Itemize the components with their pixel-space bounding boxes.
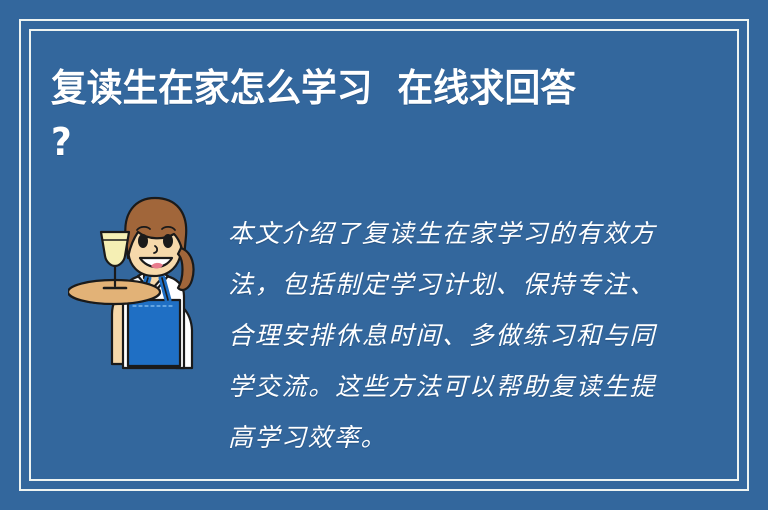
left-eye [138,234,148,248]
right-eye [163,234,173,248]
article-summary: 本文介绍了复读生在家学习的有效方法，包括制定学习计划、保持专注、合理安排休息时间… [228,208,656,463]
page-title: 复读生在家怎么学习 在线求回答 ? [51,62,615,170]
apron [128,300,180,366]
ponytail [178,248,194,290]
wine-glass-bowl [101,232,129,266]
waitress-with-tray-illustration [68,196,210,386]
article-banner: 复读生在家怎么学习 在线求回答 ? [0,0,768,510]
